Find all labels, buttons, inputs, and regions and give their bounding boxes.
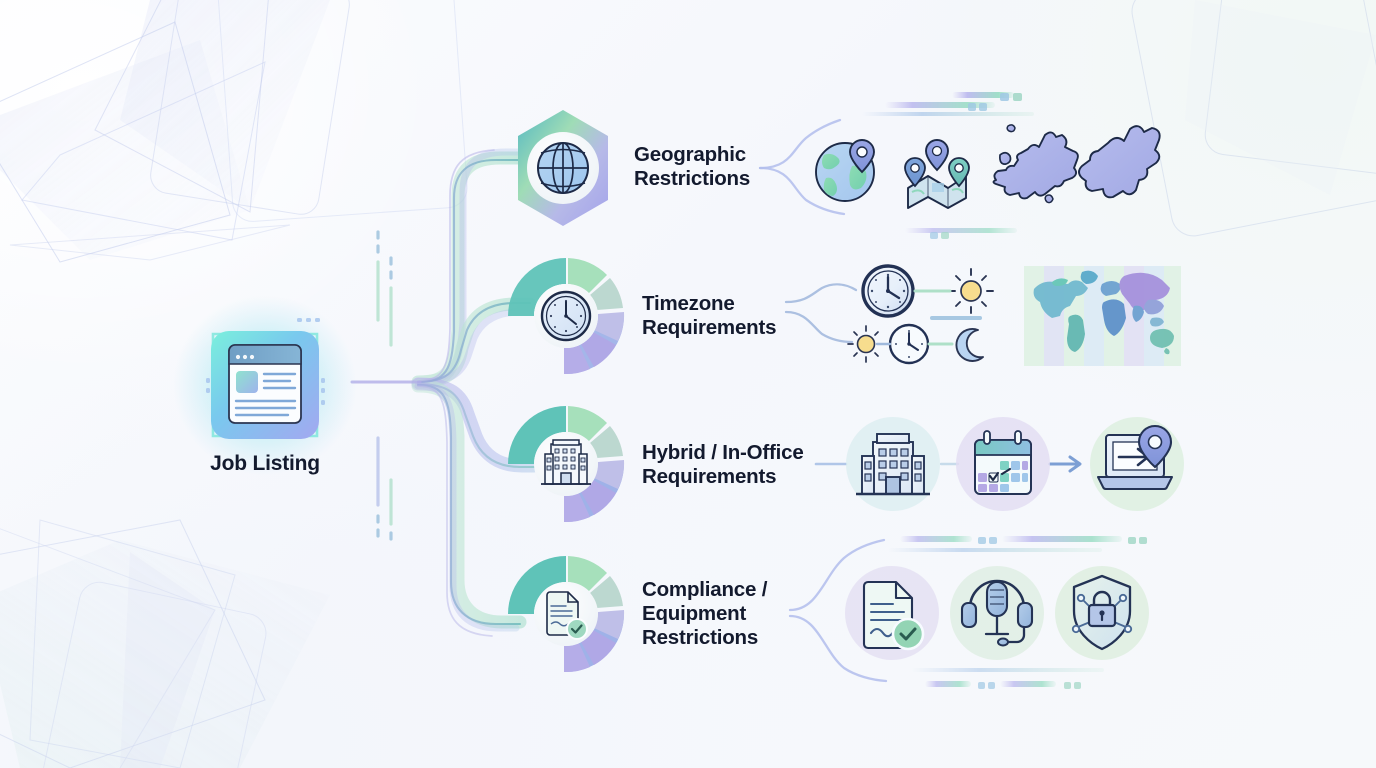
wall-clock-icon: [863, 266, 913, 316]
diagram-canvas: Job Listing: [0, 0, 1376, 768]
sun-icon: [949, 269, 993, 313]
moon-icon: [956, 329, 983, 361]
world-timezone-map-icon: [1024, 266, 1181, 366]
laptop-location-badge-icon: [1098, 426, 1172, 489]
folded-map-with-pins-icon: [905, 140, 969, 208]
europe-map-icon: [994, 125, 1078, 203]
globe-with-pin-icon: [816, 140, 874, 201]
calendar-check-badge-icon: [975, 431, 1031, 494]
second-clock-icon: [890, 325, 928, 363]
detail-icons: [0, 0, 1376, 768]
asia-russia-map-icon: [1079, 126, 1160, 197]
